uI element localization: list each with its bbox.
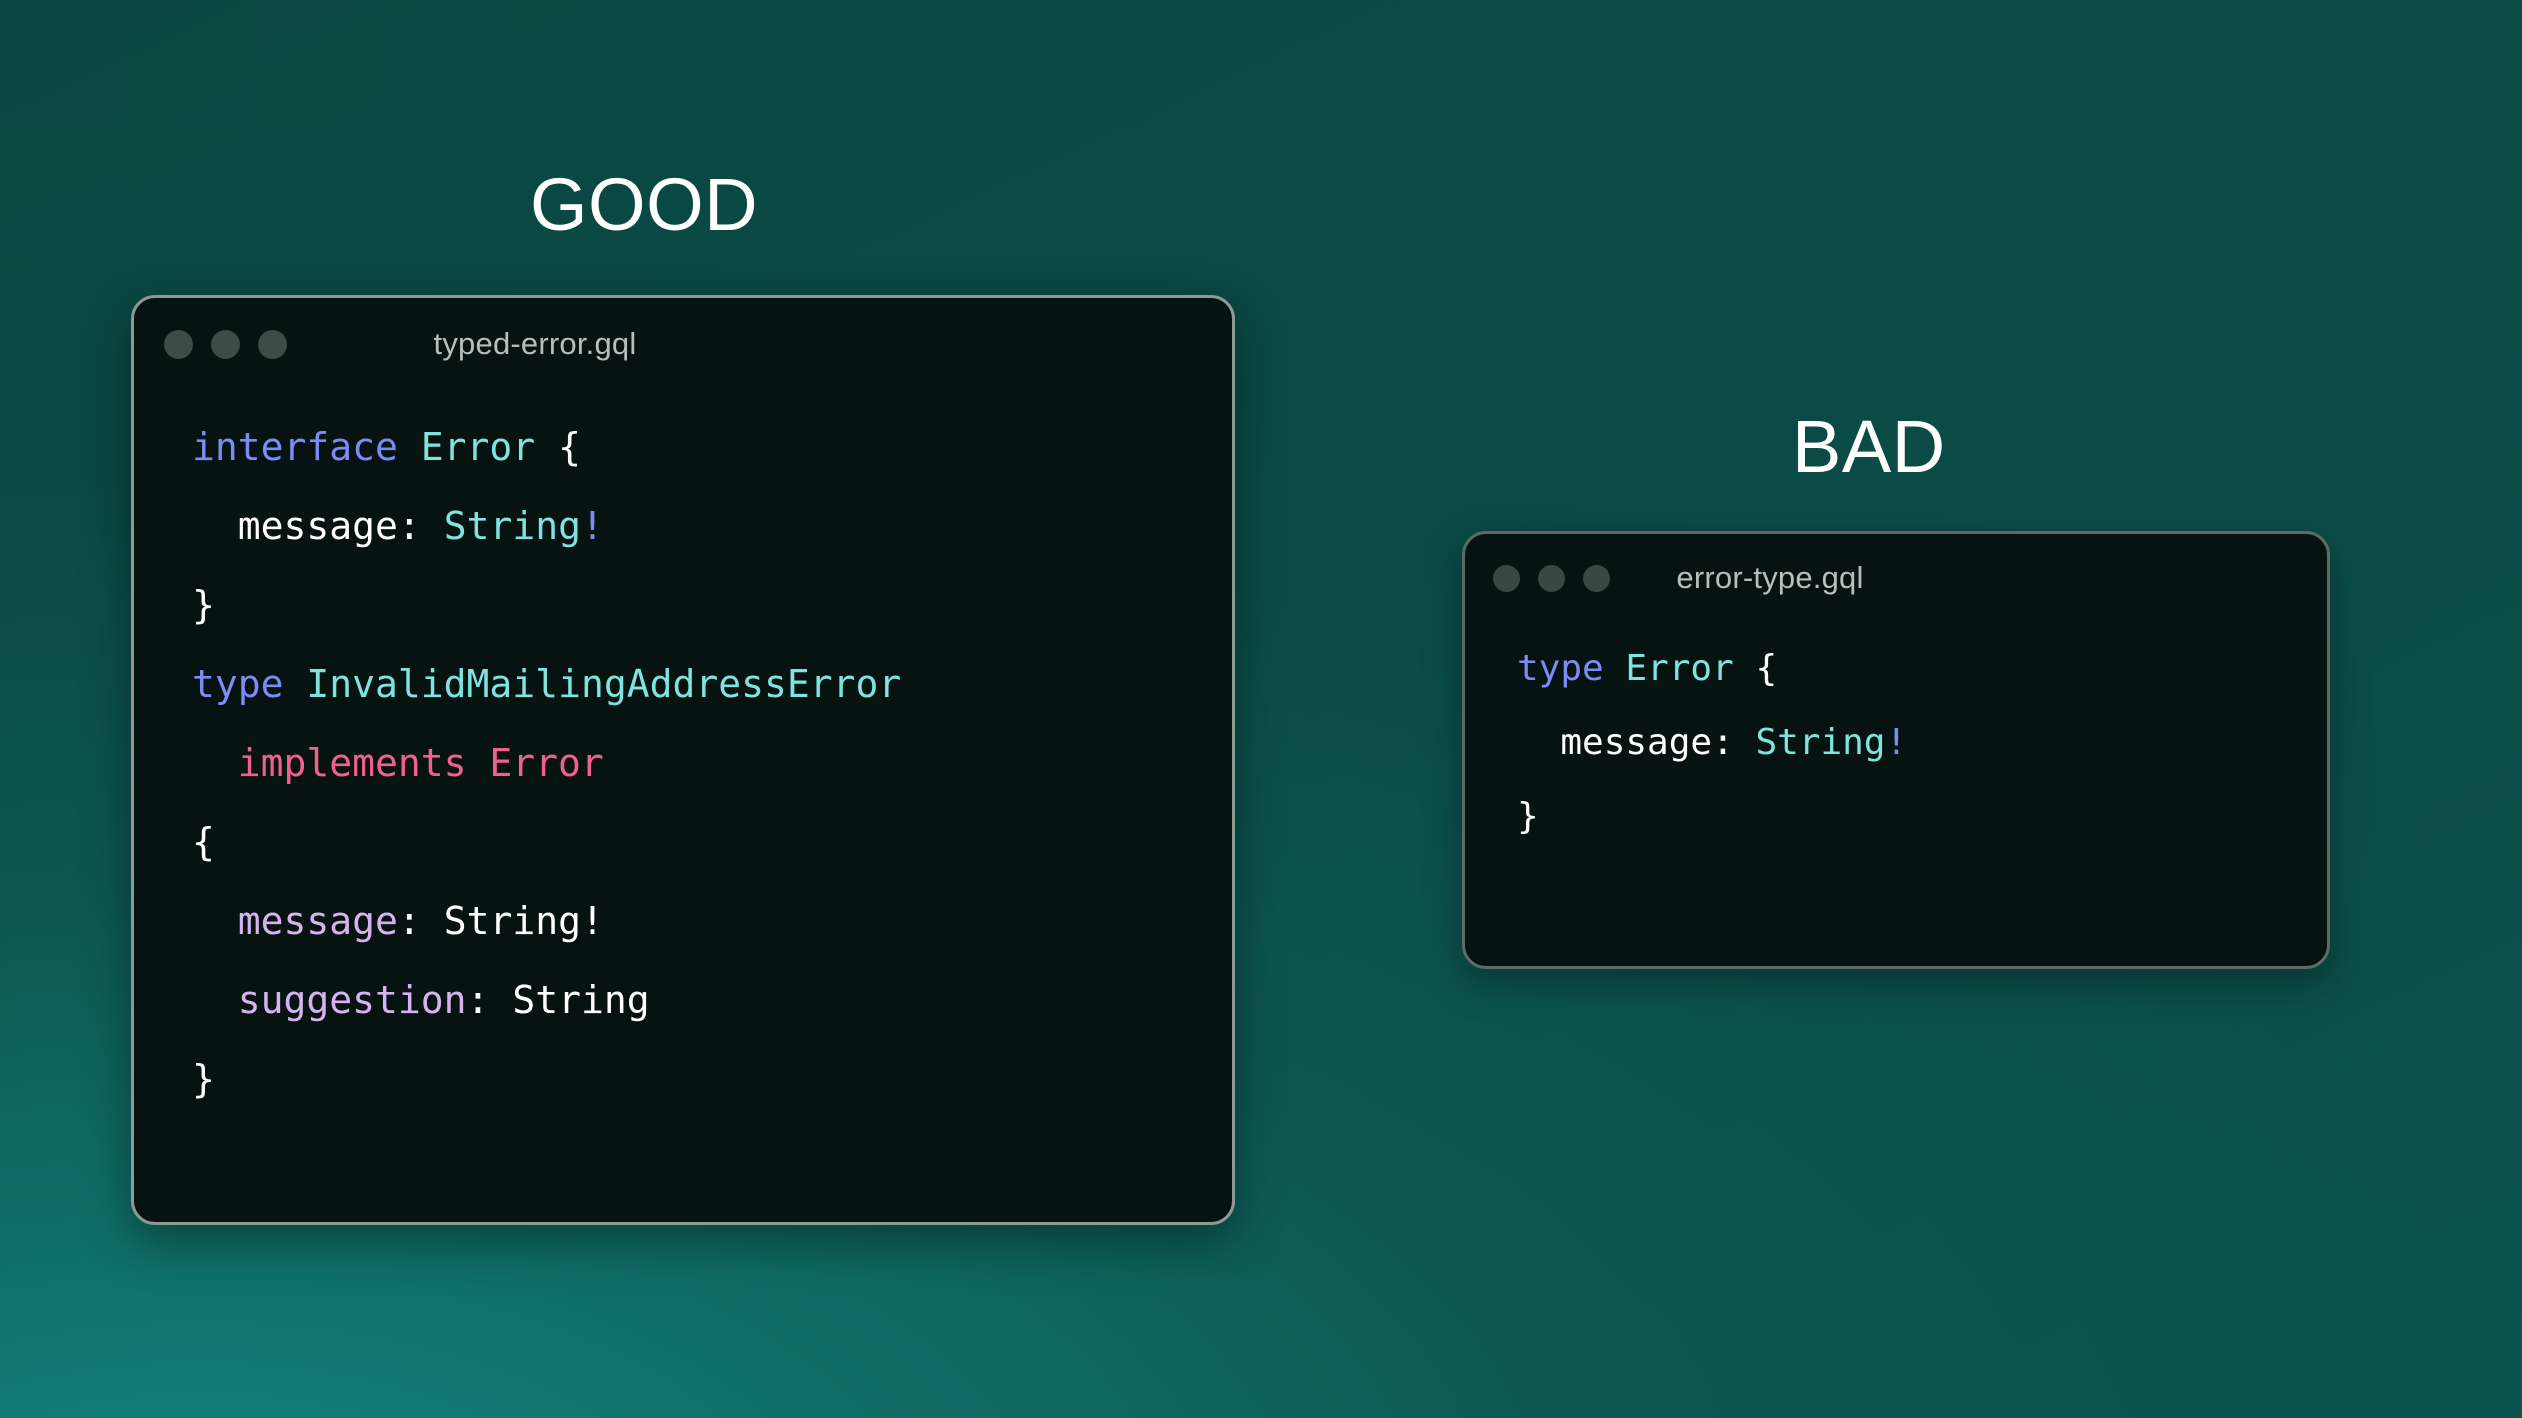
code-token-field-p: message (238, 899, 398, 943)
code-token-impl: implements Error (238, 741, 604, 785)
code-token-punct: : (398, 899, 444, 943)
slide-canvas: GOOD typed-error.gql interface Error { m… (0, 0, 2522, 1418)
code-line: message: String! (192, 487, 1232, 566)
code-token-scalar-w: String (512, 978, 649, 1022)
traffic-lights-good (164, 330, 287, 359)
code-token-punct (192, 504, 238, 548)
close-dot-icon[interactable] (1493, 565, 1520, 592)
code-token-bang: ! (581, 504, 604, 548)
code-token-field-p: suggestion (238, 978, 467, 1022)
code-token-punct (284, 662, 307, 706)
code-token-type: Error (421, 425, 535, 469)
code-block-bad: type Error { message: String!} (1465, 622, 2327, 854)
window-titlebar-bad: error-type.gql (1465, 534, 2327, 622)
section-label-bad: BAD (1792, 410, 1946, 484)
code-token-punct (192, 899, 238, 943)
code-window-good: typed-error.gql interface Error { messag… (131, 295, 1235, 1225)
code-token-punct: { (1755, 648, 1777, 689)
code-window-bad: error-type.gql type Error { message: Str… (1462, 531, 2330, 969)
section-label-good: GOOD (530, 168, 758, 242)
code-token-punct: : (398, 504, 444, 548)
code-token-field: message (1560, 722, 1712, 763)
code-token-punct: { (558, 425, 581, 469)
code-token-punct (1734, 648, 1756, 689)
code-token-punct (192, 741, 238, 785)
code-token-scalar: String (444, 504, 581, 548)
code-line: message: String! (1517, 706, 2327, 780)
code-token-kw: interface (192, 425, 398, 469)
code-token-punct (1517, 722, 1560, 763)
code-token-punct: : (1712, 722, 1755, 763)
code-token-punct (192, 978, 238, 1022)
minimize-dot-icon[interactable] (1538, 565, 1565, 592)
code-token-punct (1604, 648, 1626, 689)
code-token-field: message (238, 504, 398, 548)
traffic-lights-bad (1493, 565, 1610, 592)
code-line: interface Error { (192, 408, 1232, 487)
code-line: } (1517, 780, 2327, 854)
code-token-bang: ! (1885, 722, 1907, 763)
code-token-scalar-w: String! (444, 899, 604, 943)
code-token-type: Error (1625, 648, 1733, 689)
zoom-dot-icon[interactable] (258, 330, 287, 359)
close-dot-icon[interactable] (164, 330, 193, 359)
code-line: { (192, 803, 1232, 882)
code-line: suggestion: String (192, 961, 1232, 1040)
code-token-kw: type (192, 662, 284, 706)
code-token-punct: : (467, 978, 513, 1022)
code-line: } (192, 566, 1232, 645)
code-token-punct: { (192, 820, 215, 864)
code-line: type InvalidMailingAddressError (192, 645, 1232, 724)
code-token-punct: } (192, 583, 215, 627)
code-token-punct: } (1517, 796, 1539, 837)
window-titlebar-good: typed-error.gql (134, 298, 1232, 390)
code-token-kw: type (1517, 648, 1604, 689)
code-token-type: InvalidMailingAddressError (306, 662, 901, 706)
code-line: } (192, 1040, 1232, 1119)
zoom-dot-icon[interactable] (1583, 565, 1610, 592)
code-line: message: String! (192, 882, 1232, 961)
code-token-punct (535, 425, 558, 469)
code-line: type Error { (1517, 632, 2327, 706)
code-line: implements Error (192, 724, 1232, 803)
code-token-punct: } (192, 1057, 215, 1101)
code-token-scalar: String (1755, 722, 1885, 763)
minimize-dot-icon[interactable] (211, 330, 240, 359)
code-block-good: interface Error { message: String!}type … (134, 390, 1232, 1119)
code-token-punct (398, 425, 421, 469)
